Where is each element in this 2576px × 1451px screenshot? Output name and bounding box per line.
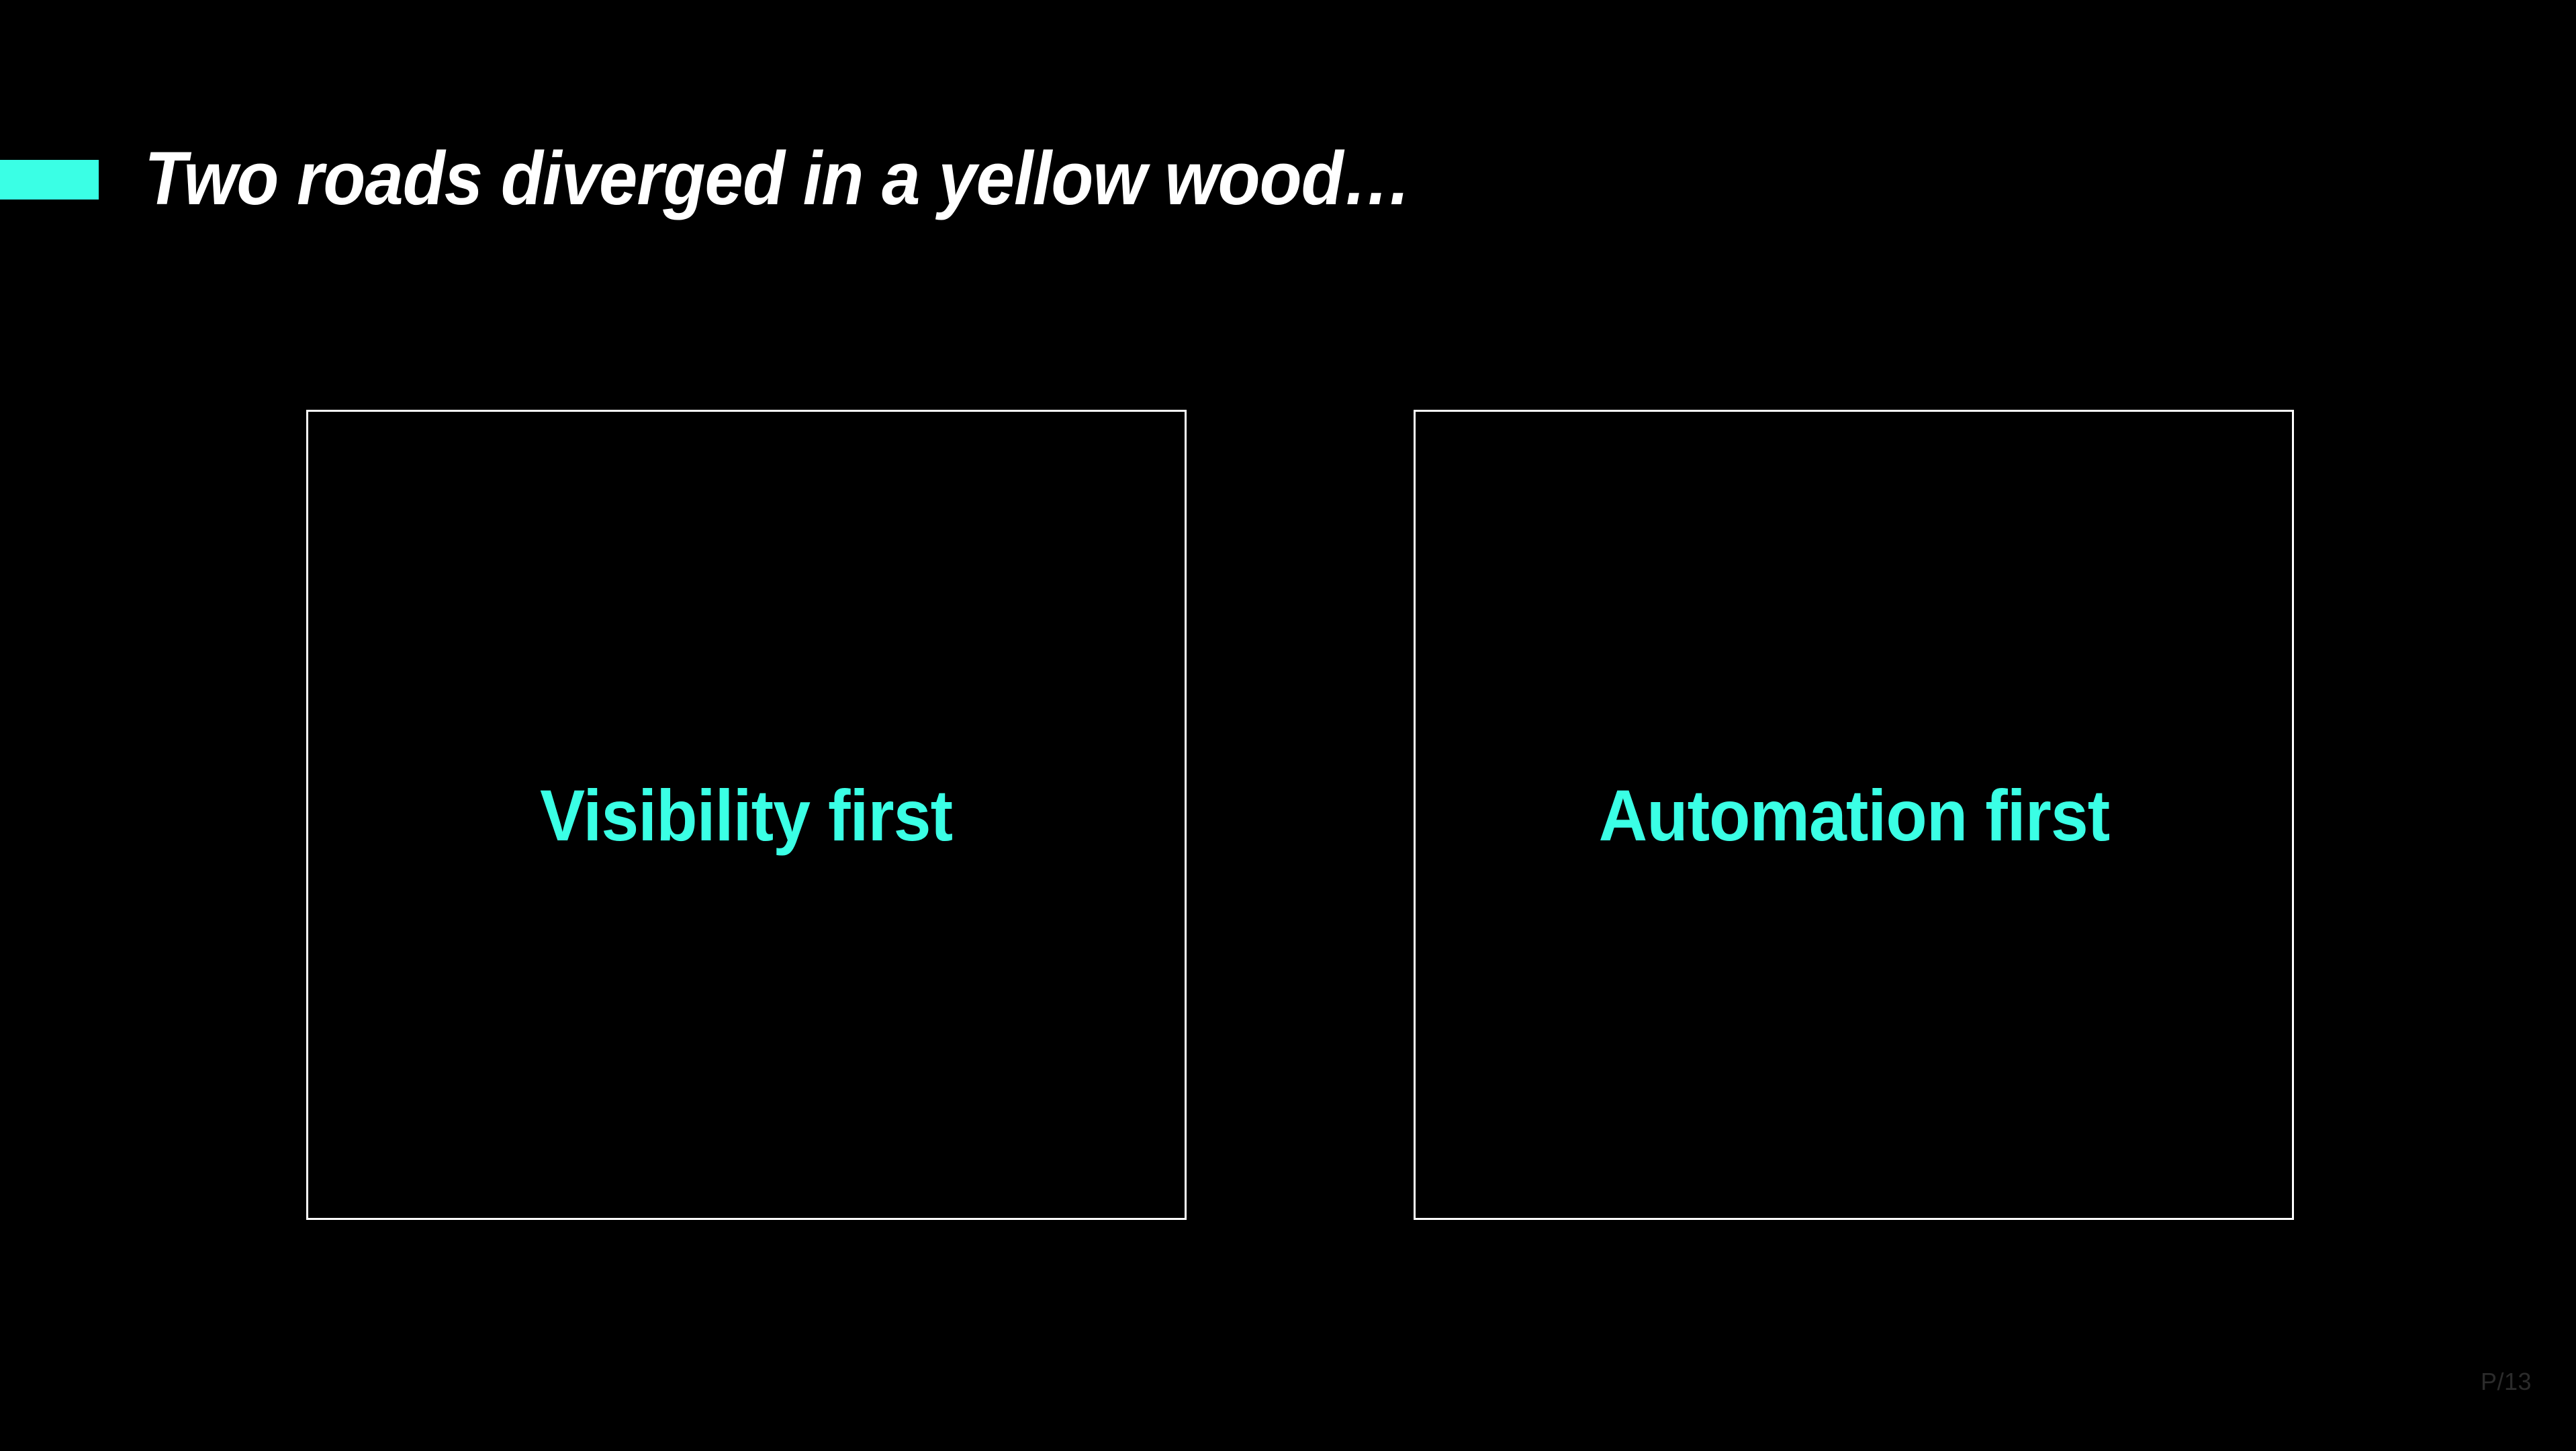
- card-label: Automation first: [1598, 773, 2109, 857]
- card-automation-first[interactable]: Automation first: [1414, 410, 2294, 1220]
- slide-canvas: Two roads diverged in a yellow wood… Vis…: [0, 0, 2576, 1451]
- card-group: Visibility first Automation first: [0, 0, 2576, 1451]
- card-visibility-first[interactable]: Visibility first: [306, 410, 1187, 1220]
- page-number: P/13: [2481, 1368, 2532, 1396]
- card-label: Visibility first: [540, 773, 952, 857]
